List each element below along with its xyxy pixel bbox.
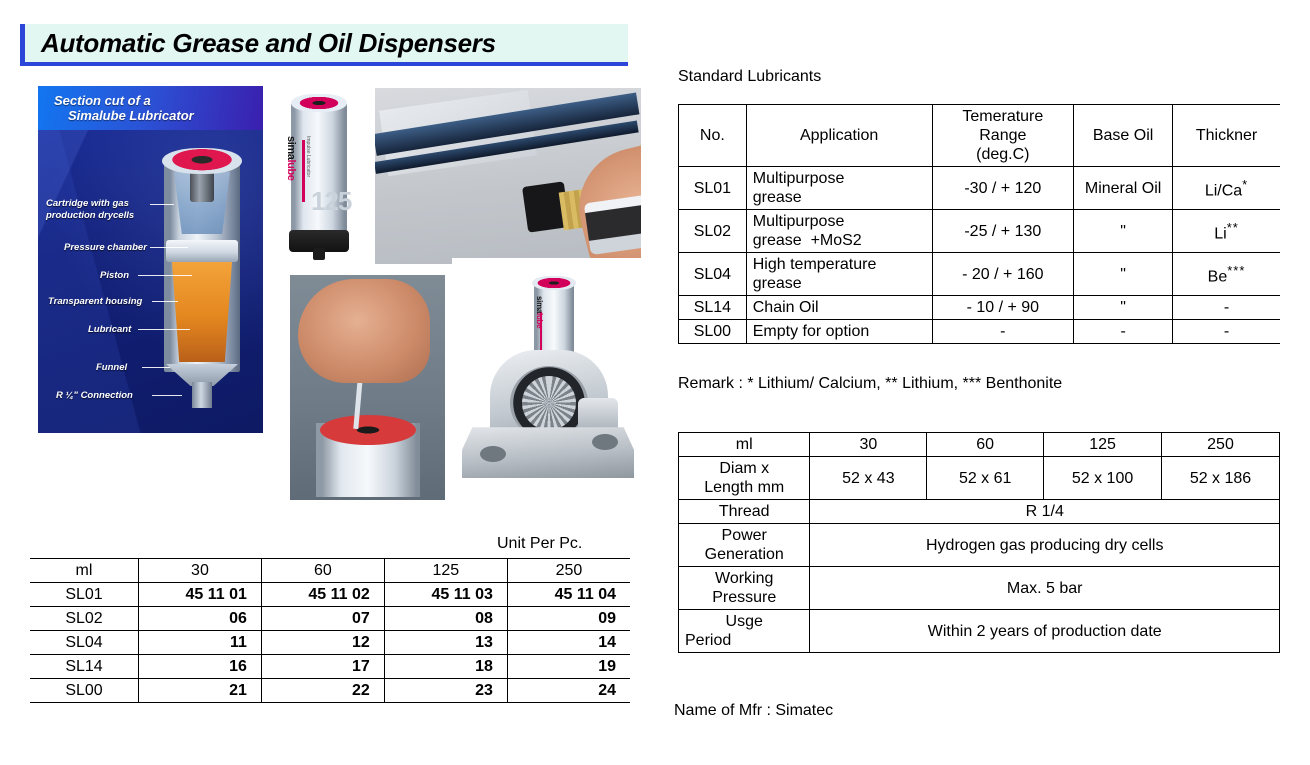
bearing-rollers <box>522 376 576 430</box>
row-label-power-generation: Power Generation <box>679 524 810 567</box>
table-row: Working Pressure Max. 5 bar <box>679 567 1280 610</box>
cylinder-graphic: simalube Impulse Lubricator 125 <box>289 94 349 262</box>
label-pressure-chamber: Pressure chamber <box>64 242 147 253</box>
table-header-row: No. Application Temerature Range (deg.C)… <box>679 105 1281 167</box>
table-row: Thread R 1/4 <box>679 500 1280 524</box>
cell-application: Multipurpose grease <box>746 167 932 210</box>
brand-prefix: sima <box>535 296 544 313</box>
cylinder-dial-cap <box>291 94 347 112</box>
row-label-diameter-length: Diam x Length mm <box>679 457 810 500</box>
row-label-line2: Generation <box>685 545 803 564</box>
cell-code-30: 21 <box>139 679 262 703</box>
cell-application: Chain Oil <box>746 296 932 320</box>
row-label-working-pressure: Working Pressure <box>679 567 810 610</box>
thickner-footnote: * <box>1242 177 1248 192</box>
cell-code-125: 45 11 03 <box>384 583 507 607</box>
lubricants-caption: Standard Lubricants <box>678 68 821 86</box>
row-label-line1: Diam x <box>685 459 803 478</box>
header-base-oil: Base Oil <box>1074 105 1173 167</box>
dial-face <box>320 415 416 445</box>
catalog-page: Automatic Grease and Oil Dispensers Sect… <box>0 0 1310 765</box>
application-additive: +MoS2 <box>811 232 862 249</box>
header-size-125: 125 <box>384 559 507 583</box>
table-header-row: ml 30 60 125 250 <box>30 559 630 583</box>
cell-code-250: 19 <box>507 655 630 679</box>
cell-code-30: 16 <box>139 655 262 679</box>
brand-suffix: lube <box>285 159 297 180</box>
piston-shape <box>166 240 238 262</box>
cylinder-nipple <box>313 248 325 260</box>
cell-working-pressure-value: Max. 5 bar <box>810 567 1280 610</box>
table-row: SL04 High temperature grease - 20 / + 16… <box>679 253 1281 296</box>
cell-thickner: Li** <box>1173 210 1280 253</box>
table-row: SL00 Empty for option - - - <box>679 320 1281 344</box>
table-row: SL04 11 12 13 14 <box>30 631 630 655</box>
label-transparent-housing: Transparent housing <box>48 296 142 307</box>
leader-transparent-housing <box>152 301 178 302</box>
specifications-table: ml 30 60 125 250 Diam x Length mm 52 x 4… <box>678 432 1280 653</box>
cell-application: Multipurpose grease +MoS2 <box>746 210 932 253</box>
table-row: Diam x Length mm 52 x 43 52 x 61 52 x 10… <box>679 457 1280 500</box>
cell-code-60: 45 11 02 <box>261 583 384 607</box>
rail-lubricator <box>584 193 641 255</box>
cell-temperature: - 10 / + 90 <box>932 296 1074 320</box>
leader-lubricant <box>138 329 190 330</box>
photo-cylinder-lubricator: simalube Impulse Lubricator 125 <box>283 88 355 268</box>
cylinder-brand: simalube <box>283 136 297 206</box>
header-application: Application <box>746 105 932 167</box>
row-label-thread: Thread <box>679 500 810 524</box>
manufacturer-line: Name of Mfr : Simatec <box>674 702 833 720</box>
cell-code-125: 08 <box>384 607 507 631</box>
cell-no: SL14 <box>679 296 747 320</box>
hand-fingers <box>298 279 430 383</box>
label-piston: Piston <box>100 270 129 281</box>
bearing-bolt-hole-left <box>480 446 506 462</box>
cell-no: SL00 <box>679 320 747 344</box>
application-line1: High temperature <box>753 255 926 274</box>
units-caption: Unit Per Pc. <box>497 535 582 553</box>
brand-suffix: lube <box>535 313 544 328</box>
cell-temperature: -25 / + 130 <box>932 210 1074 253</box>
cell-no: SL02 <box>30 607 139 631</box>
cell-code-60: 12 <box>261 631 384 655</box>
standard-lubricants-table: No. Application Temerature Range (deg.C)… <box>678 104 1280 344</box>
photo-rail-application <box>375 88 641 264</box>
cell-base-oil: " <box>1074 253 1173 296</box>
cell-no: SL04 <box>30 631 139 655</box>
section-cut-illustration: Section cut of a Simalube Lubricator Car… <box>38 86 263 433</box>
row-label-line1: Power <box>685 526 803 545</box>
unit-codes-table: ml 30 60 125 250 SL01 45 11 01 45 11 02 … <box>30 558 630 703</box>
table-header-row: ml 30 60 125 250 <box>679 433 1280 457</box>
leader-funnel <box>142 367 170 368</box>
row-label-line1: Working <box>685 569 803 588</box>
cell-temperature: - 20 / + 160 <box>932 253 1074 296</box>
illustration-header-line1: Section cut of a <box>38 86 263 108</box>
table-row: SL14 16 17 18 19 <box>30 655 630 679</box>
illustration-header-line2: Simalube Lubricator <box>38 108 263 123</box>
header-temp-line2: Range <box>939 126 1068 145</box>
header-ml: ml <box>679 433 810 457</box>
leader-connection <box>152 395 182 396</box>
cell-code-125: 23 <box>384 679 507 703</box>
thickner-value: Be <box>1208 269 1228 286</box>
header-temp-line1: Temerature <box>939 107 1068 126</box>
header-size-30: 30 <box>810 433 927 457</box>
label-lubricant: Lubricant <box>88 324 131 335</box>
thickner-value: Li/Ca <box>1205 183 1242 200</box>
row-label-line2: Period <box>685 631 803 650</box>
thickner-footnote: *** <box>1227 263 1245 278</box>
cell-dim-60: 52 x 61 <box>927 457 1044 500</box>
cap-shape <box>162 148 242 174</box>
table-row: SL14 Chain Oil - 10 / + 90 " - <box>679 296 1281 320</box>
cell-no: SL01 <box>679 167 747 210</box>
application-line2-text: grease <box>753 232 802 249</box>
table-row: Usge Period Within 2 years of production… <box>679 610 1280 653</box>
table-row: SL02 06 07 08 09 <box>30 607 630 631</box>
cell-no: SL14 <box>30 655 139 679</box>
label-cartridge-line1: Cartridge with gas <box>46 198 129 209</box>
application-line2: grease <box>753 274 926 293</box>
cell-no: SL04 <box>679 253 747 296</box>
page-title: Automatic Grease and Oil Dispensers <box>25 24 628 59</box>
header-no: No. <box>679 105 747 167</box>
cell-code-60: 17 <box>261 655 384 679</box>
application-line2: grease <box>753 188 926 207</box>
photo-dial-setting <box>290 275 445 500</box>
cell-temperature: -30 / + 120 <box>932 167 1074 210</box>
cell-code-125: 13 <box>384 631 507 655</box>
cell-usage-period-value: Within 2 years of production date <box>810 610 1280 653</box>
label-funnel: Funnel <box>96 362 127 373</box>
header-temperature-range: Temerature Range (deg.C) <box>932 105 1074 167</box>
cell-code-30: 11 <box>139 631 262 655</box>
cell-thread-value: R 1/4 <box>810 500 1280 524</box>
cell-base-oil: - <box>1074 320 1173 344</box>
cell-base-oil: " <box>1074 296 1173 320</box>
cell-no: SL00 <box>30 679 139 703</box>
label-connection: R ¼" Connection <box>56 390 133 401</box>
cell-code-250: 45 11 04 <box>507 583 630 607</box>
table-row: SL01 45 11 01 45 11 02 45 11 03 45 11 04 <box>30 583 630 607</box>
row-label-usage-period: Usge Period <box>679 610 810 653</box>
cell-base-oil: " <box>1074 210 1173 253</box>
brand-prefix: sima <box>285 136 297 159</box>
bearing-bolt-hole-right <box>592 434 618 450</box>
row-label-line2: Length mm <box>685 478 803 497</box>
cell-thickner: Be*** <box>1173 253 1280 296</box>
cell-no: SL01 <box>30 583 139 607</box>
application-line1: Multipurpose <box>753 212 926 231</box>
header-size-125: 125 <box>1044 433 1162 457</box>
leader-piston <box>138 275 192 276</box>
cylinder-size-marking: 125 <box>311 186 347 217</box>
header-thickner: Thickner <box>1173 105 1280 167</box>
cylinder-subtitle: Impulse Lubricator <box>301 136 311 208</box>
page-title-banner: Automatic Grease and Oil Dispensers <box>20 24 628 66</box>
header-size-250: 250 <box>507 559 630 583</box>
cell-code-125: 18 <box>384 655 507 679</box>
header-size-60: 60 <box>261 559 384 583</box>
table-row: SL00 21 22 23 24 <box>30 679 630 703</box>
header-size-30: 30 <box>139 559 262 583</box>
cell-temperature: - <box>932 320 1074 344</box>
row-label-line2: Pressure <box>685 588 803 607</box>
cell-dim-250: 52 x 186 <box>1162 457 1280 500</box>
cell-thickner: Li/Ca* <box>1173 167 1280 210</box>
header-temp-line3: (deg.C) <box>939 145 1068 164</box>
cell-code-250: 24 <box>507 679 630 703</box>
application-line1: Multipurpose <box>753 169 926 188</box>
cell-thickner: - <box>1173 320 1280 344</box>
row-label-line1: Usge <box>685 612 803 631</box>
cell-dim-125: 52 x 100 <box>1044 457 1162 500</box>
bearing-lubricator-cap <box>532 276 576 290</box>
cell-code-30: 06 <box>139 607 262 631</box>
table-row: SL01 Multipurpose grease -30 / + 120 Min… <box>679 167 1281 210</box>
cell-code-250: 09 <box>507 607 630 631</box>
cell-code-60: 22 <box>261 679 384 703</box>
cell-no: SL02 <box>679 210 747 253</box>
table-row: Power Generation Hydrogen gas producing … <box>679 524 1280 567</box>
application-line2: grease +MoS2 <box>753 231 926 250</box>
cell-power-generation-value: Hydrogen gas producing dry cells <box>810 524 1280 567</box>
cell-base-oil: Mineral Oil <box>1074 167 1173 210</box>
cell-code-60: 07 <box>261 607 384 631</box>
bearing-lubricator-brand: simalube <box>535 296 544 352</box>
cell-code-30: 45 11 01 <box>139 583 262 607</box>
leader-pressure-chamber <box>150 247 188 248</box>
cell-thickner: - <box>1173 296 1280 320</box>
cell-application: Empty for option <box>746 320 932 344</box>
cell-application: High temperature grease <box>746 253 932 296</box>
header-size-250: 250 <box>1162 433 1280 457</box>
lubricants-remark: Remark : * Lithium/ Calcium, ** Lithium,… <box>678 375 1062 393</box>
cell-dim-30: 52 x 43 <box>810 457 927 500</box>
table-row: SL02 Multipurpose grease +MoS2 -25 / + 1… <box>679 210 1281 253</box>
lubricant-shape <box>172 262 232 362</box>
thickner-value: Li <box>1214 226 1226 243</box>
illustration-header: Section cut of a Simalube Lubricator <box>38 86 263 130</box>
header-size-60: 60 <box>927 433 1044 457</box>
lubricator-cutaway-drawing <box>156 142 248 414</box>
thickner-footnote: ** <box>1227 220 1239 235</box>
label-cartridge-line2: production drycells <box>46 210 134 221</box>
connection-shape <box>192 382 212 408</box>
leader-cartridge <box>150 204 174 205</box>
header-ml: ml <box>30 559 139 583</box>
cell-code-250: 14 <box>507 631 630 655</box>
photo-bearing-application: simalube <box>452 258 644 502</box>
